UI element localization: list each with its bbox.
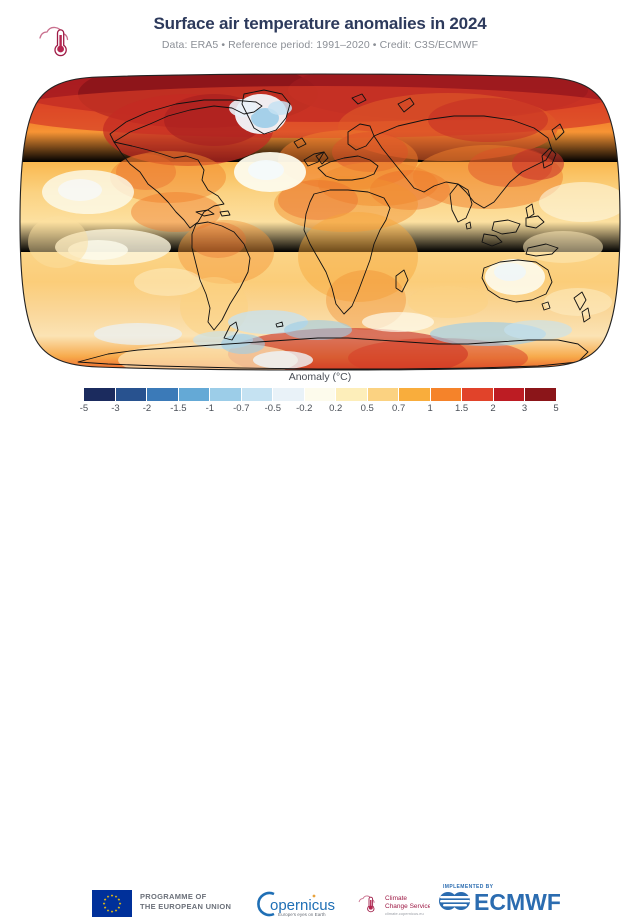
eu-star [115,909,118,912]
colorbar-tick-15: 5 [553,403,558,414]
eu-line2: THE EUROPEAN UNION [140,902,231,912]
colorbar-swatch-13 [494,388,525,401]
eu-star [117,906,120,909]
eu-star [107,909,110,912]
colorbar-tick-3: -1.5 [170,403,186,414]
colorbar-tick-11: 1 [427,403,432,414]
svg-text:Europe's eyes on Earth: Europe's eyes on Earth [278,912,326,917]
eu-line1: PROGRAMME OF [140,892,231,902]
copernicus-logo: opernicus Europe's eyes on Earth [252,890,344,923]
colorbar-swatch-2 [147,388,178,401]
colorbar-tick-10: 0.7 [392,403,405,414]
colorbar-swatch-5 [242,388,273,401]
colorbar-swatch-12 [462,388,493,401]
colorbar-swatch-3 [179,388,210,401]
page-title: Surface air temperature anomalies in 202… [0,14,640,34]
c3s-logo: Climate Change Service climate.copernicu… [352,888,430,923]
eu-star [111,910,114,913]
eu-star [103,902,106,905]
colorbar-tick-4: -1 [206,403,214,414]
ecmwf-logo: ECMWF [435,884,560,919]
eu-star [104,906,107,909]
svg-text:climate.copernicus.eu: climate.copernicus.eu [385,911,424,916]
colorbar-tick-6: -0.5 [265,403,281,414]
colorbar-swatch-9 [368,388,399,401]
svg-text:ECMWF: ECMWF [474,889,560,914]
eu-star [117,898,120,901]
eu-star [115,895,118,898]
colorbar-tick-5: -0.7 [233,403,249,414]
colorbar-swatch-8 [336,388,367,401]
colorbar-tick-2: -2 [143,403,151,414]
eu-star [111,894,114,897]
eu-star [119,902,122,905]
eu-flag-icon [92,890,132,917]
colorbar-swatch-14 [525,388,556,401]
colorbar-tick-9: 0.5 [361,403,374,414]
svg-text:Change Service: Change Service [385,903,430,910]
colorbar-tick-13: 2 [490,403,495,414]
colorbar-swatch-1 [116,388,147,401]
colorbar-tick-8: 0.2 [329,403,342,414]
footer: PROGRAMME OF THE EUROPEAN UNION opernicu… [0,440,640,480]
colorbar-ticks: -5-3-2-1.5-1-0.7-0.5-0.20.20.50.711.5235 [84,403,556,417]
svg-text:Climate: Climate [385,895,407,902]
colorbar-tick-1: -3 [111,403,119,414]
page-subtitle: Data: ERA5 • Reference period: 1991–2020… [0,39,640,51]
colorbar-swatch-7 [305,388,336,401]
colorbar-swatch-0 [84,388,115,401]
colorbar-swatch-11 [431,388,462,401]
colorbar-tick-14: 3 [522,403,527,414]
colorbar-tick-7: -0.2 [296,403,312,414]
eu-star [107,895,110,898]
climate-anomaly-infographic: Surface air temperature anomalies in 202… [0,0,640,480]
eu-programme-label: PROGRAMME OF THE EUROPEAN UNION [140,892,231,912]
colorbar-tick-12: 1.5 [455,403,468,414]
eu-star [104,898,107,901]
colorbar [84,388,556,401]
colorbar-swatch-4 [210,388,241,401]
anomaly-map [18,72,622,372]
colorbar-swatch-6 [273,388,304,401]
colorbar-title: Anomaly (°C) [0,371,640,383]
colorbar-tick-0: -5 [80,403,88,414]
colorbar-swatch-10 [399,388,430,401]
